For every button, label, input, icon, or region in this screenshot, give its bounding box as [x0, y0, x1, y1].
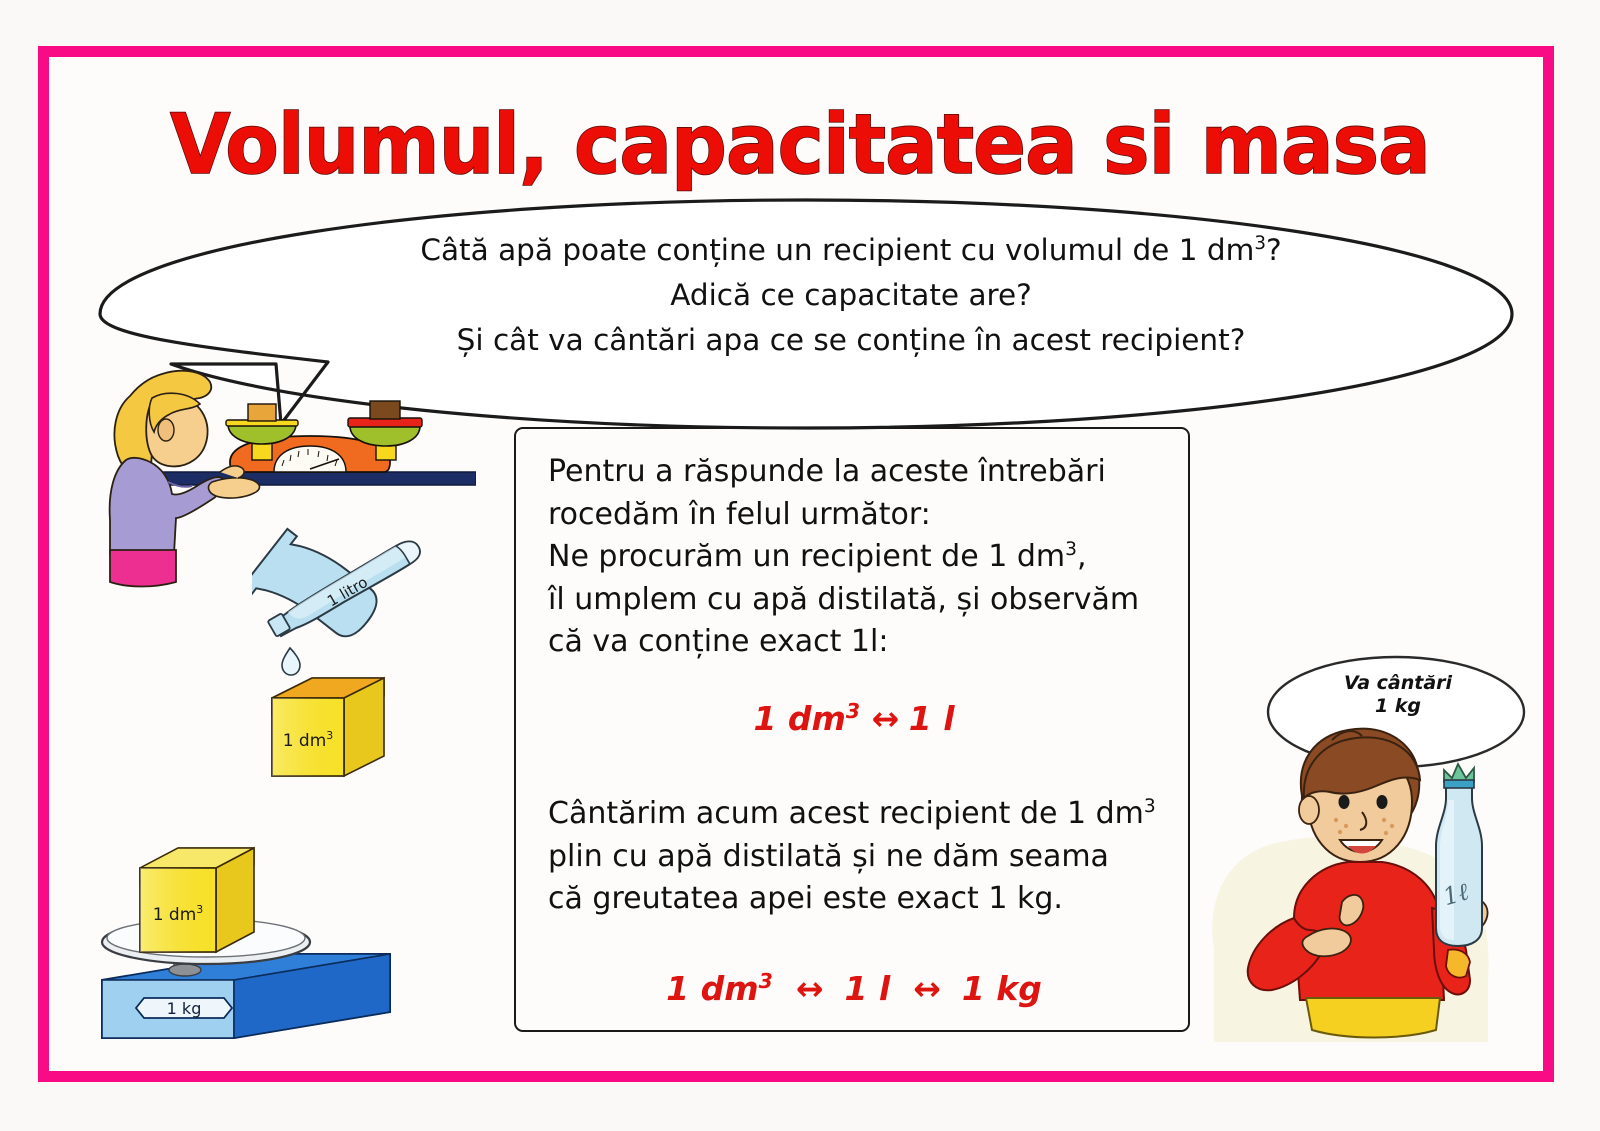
explain2-line-2: plin cu apă distilată și ne dăm seama — [548, 836, 1188, 879]
explain-line-3: Ne procurăm un recipient de 1 dm3, — [548, 536, 1166, 579]
equation-volume-capacity-mass: 1 dm3 ↔ 1 l ↔ 1 kg — [516, 969, 1192, 1008]
explain2-line-1: Cântărim acum acest recipient de 1 dm3 — [548, 793, 1188, 836]
question-line-3: Și cât va cântări apa ce se conține în a… — [346, 318, 1356, 363]
explanation-paragraph-1: Pentru a răspunde la aceste întrebări ro… — [548, 451, 1166, 664]
bottle-cube-drawing: 1 litro 1 dm3 — [252, 520, 482, 785]
boy-speech-line-1: Va cântări — [1318, 672, 1478, 695]
explain-line-2: rocedăm în felul următor: — [548, 494, 1166, 537]
double-arrow-icon: ↔ — [872, 699, 898, 738]
kitchen-scale-drawing: 1 kg 1 dm3 — [96, 820, 396, 1045]
question-bubble-text: Câtă apă poate conține un recipient cu v… — [346, 228, 1356, 363]
boy-with-bottle-illustration: 1ℓ Va cântări 1 kg — [1196, 650, 1526, 1045]
boy-speech-bubble-text: Va cântări 1 kg — [1318, 672, 1478, 718]
explain-line-5: că va conține exact 1l: — [548, 621, 1166, 664]
boy-speech-line-2: 1 kg — [1318, 695, 1478, 718]
question-line-1: Câtă apă poate conține un recipient cu v… — [346, 228, 1356, 273]
double-arrow-icon-1: ↔ — [796, 969, 822, 1008]
explanation-paragraph-2: Cântărim acum acest recipient de 1 dm3 p… — [548, 793, 1188, 921]
cube-label-text: 1 dm3 — [283, 729, 334, 751]
poster-canvas: Volumul, capacitatea si masa Câtă apă po… — [0, 0, 1600, 1131]
bottle-and-cube-illustration: 1 litro 1 dm3 — [252, 520, 482, 785]
equation-volume-capacity: 1 dm3 ↔ 1 l — [516, 699, 1192, 738]
question-line-2: Adică ce capacitate are? — [346, 273, 1356, 318]
page-title: Volumul, capacitatea si masa — [48, 96, 1552, 193]
explain-line-4: îl umplem cu apă distilată, și observăm — [548, 579, 1166, 622]
explain2-line-3: că greutatea apei este exact 1 kg. — [548, 878, 1188, 921]
scale-cube-label: 1 dm3 — [153, 903, 204, 925]
double-arrow-icon-2: ↔ — [913, 969, 939, 1008]
explain-line-1: Pentru a răspunde la aceste întrebări — [548, 451, 1166, 494]
explanation-box: Pentru a răspunde la aceste întrebări ro… — [514, 427, 1190, 1032]
kitchen-scale-illustration: 1 kg 1 dm3 — [96, 820, 396, 1045]
scale-weight-label: 1 kg — [167, 999, 202, 1018]
